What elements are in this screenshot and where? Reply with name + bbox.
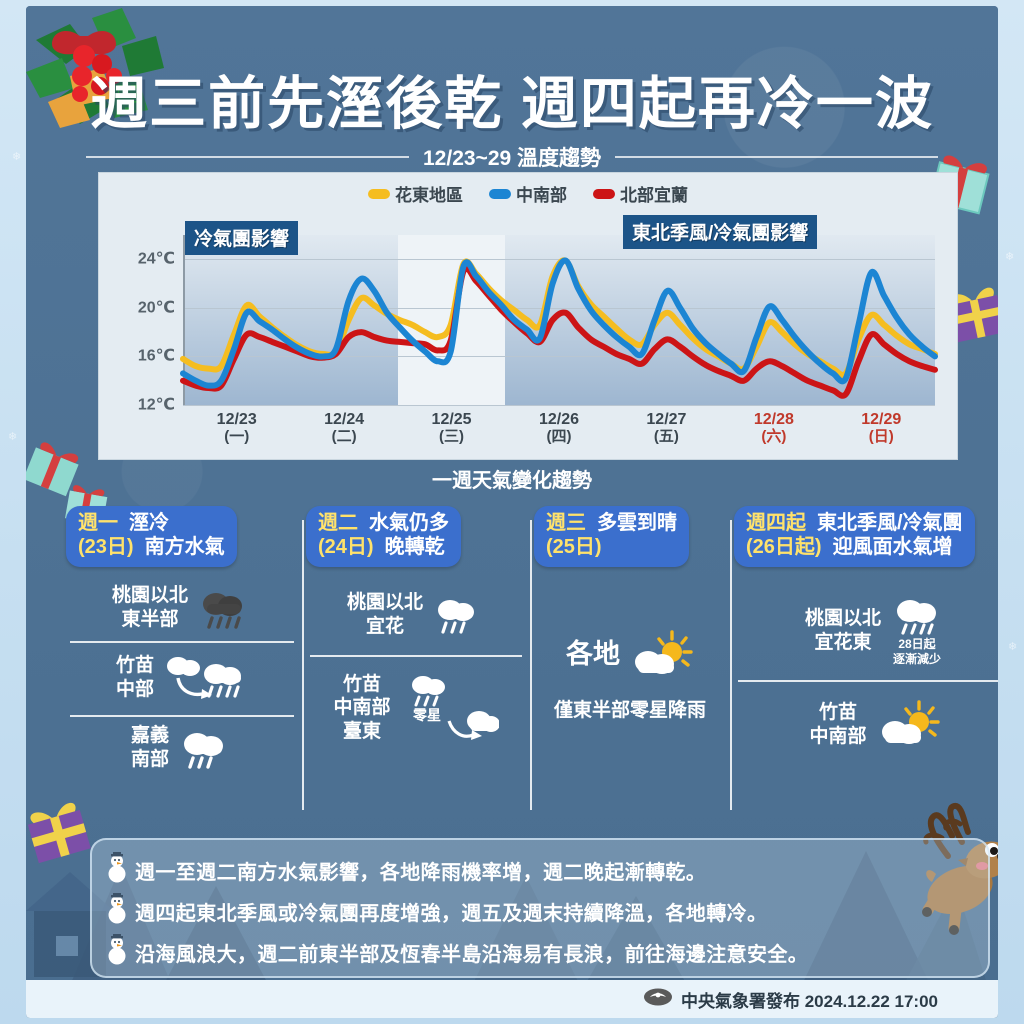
- card-row: 桃園以北東半部: [66, 575, 298, 641]
- card-rows-thursday: 桃園以北宜花東: [734, 581, 998, 770]
- card-date-label: (24日): [318, 536, 374, 560]
- icon-with-note: 28日起逐漸減少: [889, 595, 945, 666]
- weather-card-tuesday[interactable]: 週二 水氣仍多 (24日) 晚轉乾 桃園以北宜花: [302, 506, 530, 824]
- card-row: 竹苗中南部臺東 零星: [306, 655, 526, 761]
- card-row-label: 竹苗中南部臺東: [333, 673, 390, 744]
- card-day-label: 週二: [318, 512, 358, 536]
- legend-label-north-yilan: 北部宜蘭: [620, 181, 688, 206]
- chart-gridline: [183, 405, 935, 406]
- card-day-label: 週四起: [746, 512, 806, 536]
- card-row-label: 嘉義南部: [131, 724, 169, 772]
- chart-x-tick: 12/28(六): [754, 411, 794, 446]
- chart-x-tick: 12/25(三): [432, 411, 472, 446]
- weather-card-monday[interactable]: 週一 溼冷 (23日) 南方水氣 桃園以北東半部: [62, 506, 302, 824]
- footer-agency-text: 中央氣象署發布 2024.12.22 17:00: [681, 987, 938, 1012]
- chart-annotation-northeast-monsoon: 東北季風/冷氣團影響: [623, 215, 817, 249]
- legend-swatch-hualien: [368, 189, 390, 199]
- subtitle-rule-left: [86, 156, 409, 158]
- card-desc-line1: 東北季風/冷氣團: [817, 512, 963, 536]
- summary-notes-box: 週一至週二南方水氣影響，各地降雨機率增，週二晚起漸轉乾。 週四起東北季風或冷氣團…: [90, 838, 990, 978]
- card-desc-line2: 迎風面水氣增: [833, 536, 953, 560]
- card-row-label: 竹苗中南部: [809, 701, 866, 749]
- card-rows-wednesday: 各地: [534, 619, 726, 722]
- card-desc-line1: 多雲到晴: [597, 512, 677, 536]
- chart-series-line: [183, 260, 935, 385]
- snowman-icon: [106, 852, 128, 889]
- legend-label-central-south: 中南部: [516, 181, 567, 206]
- svg-text:零星: 零星: [412, 707, 441, 723]
- footer-bar: 中央氣象署發布 2024.12.22 17:00: [26, 980, 998, 1018]
- subtitle-rule-right: [615, 156, 938, 158]
- chart-x-tick: 12/24(二): [324, 411, 364, 446]
- legend-swatch-north-yilan: [593, 189, 615, 199]
- chart-x-tick: 12/29(日): [861, 411, 901, 446]
- temperature-trend-chart: 花東地區 中南部 北部宜蘭 12℃16℃20℃24℃ 12/23(一)12/24…: [98, 172, 958, 460]
- card-row: 竹苗中部: [66, 641, 298, 715]
- sun-behind-cloud-icon: [875, 698, 941, 752]
- light-rain-to-cloud-icon: 零星: [399, 671, 499, 745]
- card-row-note: 28日起逐漸減少: [893, 637, 941, 666]
- page-title: 週三前先溼後乾 週四起再冷一波: [26, 58, 998, 140]
- card-date-label: (25日): [546, 536, 602, 560]
- card-row: 竹苗中南部: [734, 680, 998, 770]
- rain-cloud-icon: [431, 591, 485, 639]
- card-rows-monday: 桃園以北東半部 竹苗中部: [66, 575, 298, 781]
- snowman-icon: [106, 893, 128, 930]
- weather-card-wednesday[interactable]: 週三 多雲到晴 (25日) 各地: [530, 506, 730, 824]
- card-row-subtext: 僅東半部零星降雨: [534, 695, 726, 722]
- chart-y-tick: 20℃: [138, 297, 175, 317]
- chart-x-tick: 12/26(四): [539, 411, 579, 446]
- legend-item-north-yilan: 北部宜蘭: [593, 181, 688, 206]
- weather-card-thursday-onward[interactable]: 週四起 東北季風/冷氣團 (26日起) 迎風面水氣增 桃園以北宜花東: [730, 506, 998, 824]
- chart-y-tick: 24℃: [138, 249, 175, 269]
- subtitle: 12/23~29 溫度趨勢: [423, 142, 601, 172]
- chart-y-tick: 12℃: [138, 395, 175, 415]
- card-row-label: 桃園以北宜花: [347, 591, 423, 639]
- card-desc-line2: 南方水氣: [145, 536, 225, 560]
- card-row: 各地: [534, 619, 726, 691]
- rain-cloud-icon: [889, 595, 945, 637]
- card-row-label: 桃園以北宜花東: [805, 607, 881, 655]
- snowflake-icon: ❄: [1005, 250, 1014, 263]
- card-day-label: 週一: [78, 512, 118, 536]
- card-day-label: 週三: [546, 512, 586, 536]
- card-badge-thursday: 週四起 東北季風/冷氣團 (26日起) 迎風面水氣增: [734, 506, 975, 567]
- note-item: 沿海風浪大，週二前東半部及恆春半島沿海易有長浪，前往海邊注意安全。: [106, 932, 972, 973]
- card-badge-wednesday: 週三 多雲到晴 (25日): [534, 506, 689, 567]
- card-row-label: 桃園以北東半部: [112, 584, 188, 632]
- cwa-logo-icon: [643, 987, 673, 1012]
- snowflake-icon: ❄: [12, 150, 21, 163]
- dark-rain-cloud-icon: [196, 584, 252, 632]
- main-panel: 週三前先溼後乾 週四起再冷一波 12/23~29 溫度趨勢 花東地區 中南部 北…: [26, 6, 998, 1018]
- legend-swatch-central-south: [489, 189, 511, 199]
- weather-cards-row: 週一 溼冷 (23日) 南方水氣 桃園以北東半部: [62, 506, 998, 824]
- chart-series-lines: [183, 235, 935, 405]
- card-row: 嘉義南部: [66, 715, 298, 781]
- rain-cloud-icon: [177, 724, 233, 772]
- note-item: 週一至週二南方水氣影響，各地降雨機率增，週二晚起漸轉乾。: [106, 850, 972, 891]
- note-text: 週一至週二南方水氣影響，各地降雨機率增，週二晚起漸轉乾。: [135, 856, 706, 885]
- snowman-icon: [106, 934, 128, 971]
- card-desc-line2: 晚轉乾: [385, 536, 445, 560]
- card-desc-line1: 溼冷: [129, 512, 169, 536]
- card-row: 桃園以北宜花: [306, 575, 526, 655]
- sun-behind-cloud-icon: [628, 628, 694, 682]
- card-row-label: 各地: [566, 638, 620, 672]
- chart-y-tick: 16℃: [138, 346, 175, 366]
- subtitle-row: 12/23~29 溫度趨勢: [86, 142, 938, 172]
- legend-item-central-south: 中南部: [489, 181, 567, 206]
- note-text: 週四起東北季風或冷氣團再度增強，週五及週末持續降溫，各地轉冷。: [135, 897, 767, 926]
- chart-x-tick: 12/23(一): [217, 411, 257, 446]
- chart-x-tick: 12/27(五): [646, 411, 686, 446]
- chart-legend: 花東地區 中南部 北部宜蘭: [99, 181, 957, 206]
- cloud-to-rain-transition-icon: [162, 650, 248, 706]
- section-heading-weekly-trend: 一週天氣變化趨勢: [26, 464, 998, 493]
- legend-item-hualien: 花東地區: [368, 181, 463, 206]
- snowflake-icon: ❄: [1008, 640, 1017, 653]
- card-desc-line1: 水氣仍多: [369, 512, 449, 536]
- card-rows-tuesday: 桃園以北宜花 竹苗中南部臺東: [306, 575, 526, 761]
- card-badge-monday: 週一 溼冷 (23日) 南方水氣: [66, 506, 237, 567]
- chart-series-line: [183, 268, 935, 396]
- card-row: 桃園以北宜花東: [734, 581, 998, 680]
- card-date-label: (26日起): [746, 536, 822, 560]
- note-item: 週四起東北季風或冷氣團再度增強，週五及週末持續降溫，各地轉冷。: [106, 891, 972, 932]
- chart-annotation-cold-air-mass: 冷氣團影響: [185, 221, 298, 255]
- chart-plot-area: 12℃16℃20℃24℃ 12/23(一)12/24(二)12/25(三)12/…: [183, 235, 935, 405]
- legend-label-hualien: 花東地區: [395, 181, 463, 206]
- card-badge-tuesday: 週二 水氣仍多 (24日) 晚轉乾: [306, 506, 461, 567]
- card-date-label: (23日): [78, 536, 134, 560]
- snowflake-icon: ❄: [8, 430, 17, 443]
- note-text: 沿海風浪大，週二前東半部及恆春半島沿海易有長浪，前往海邊注意安全。: [135, 938, 808, 967]
- card-row-label: 竹苗中部: [116, 654, 154, 702]
